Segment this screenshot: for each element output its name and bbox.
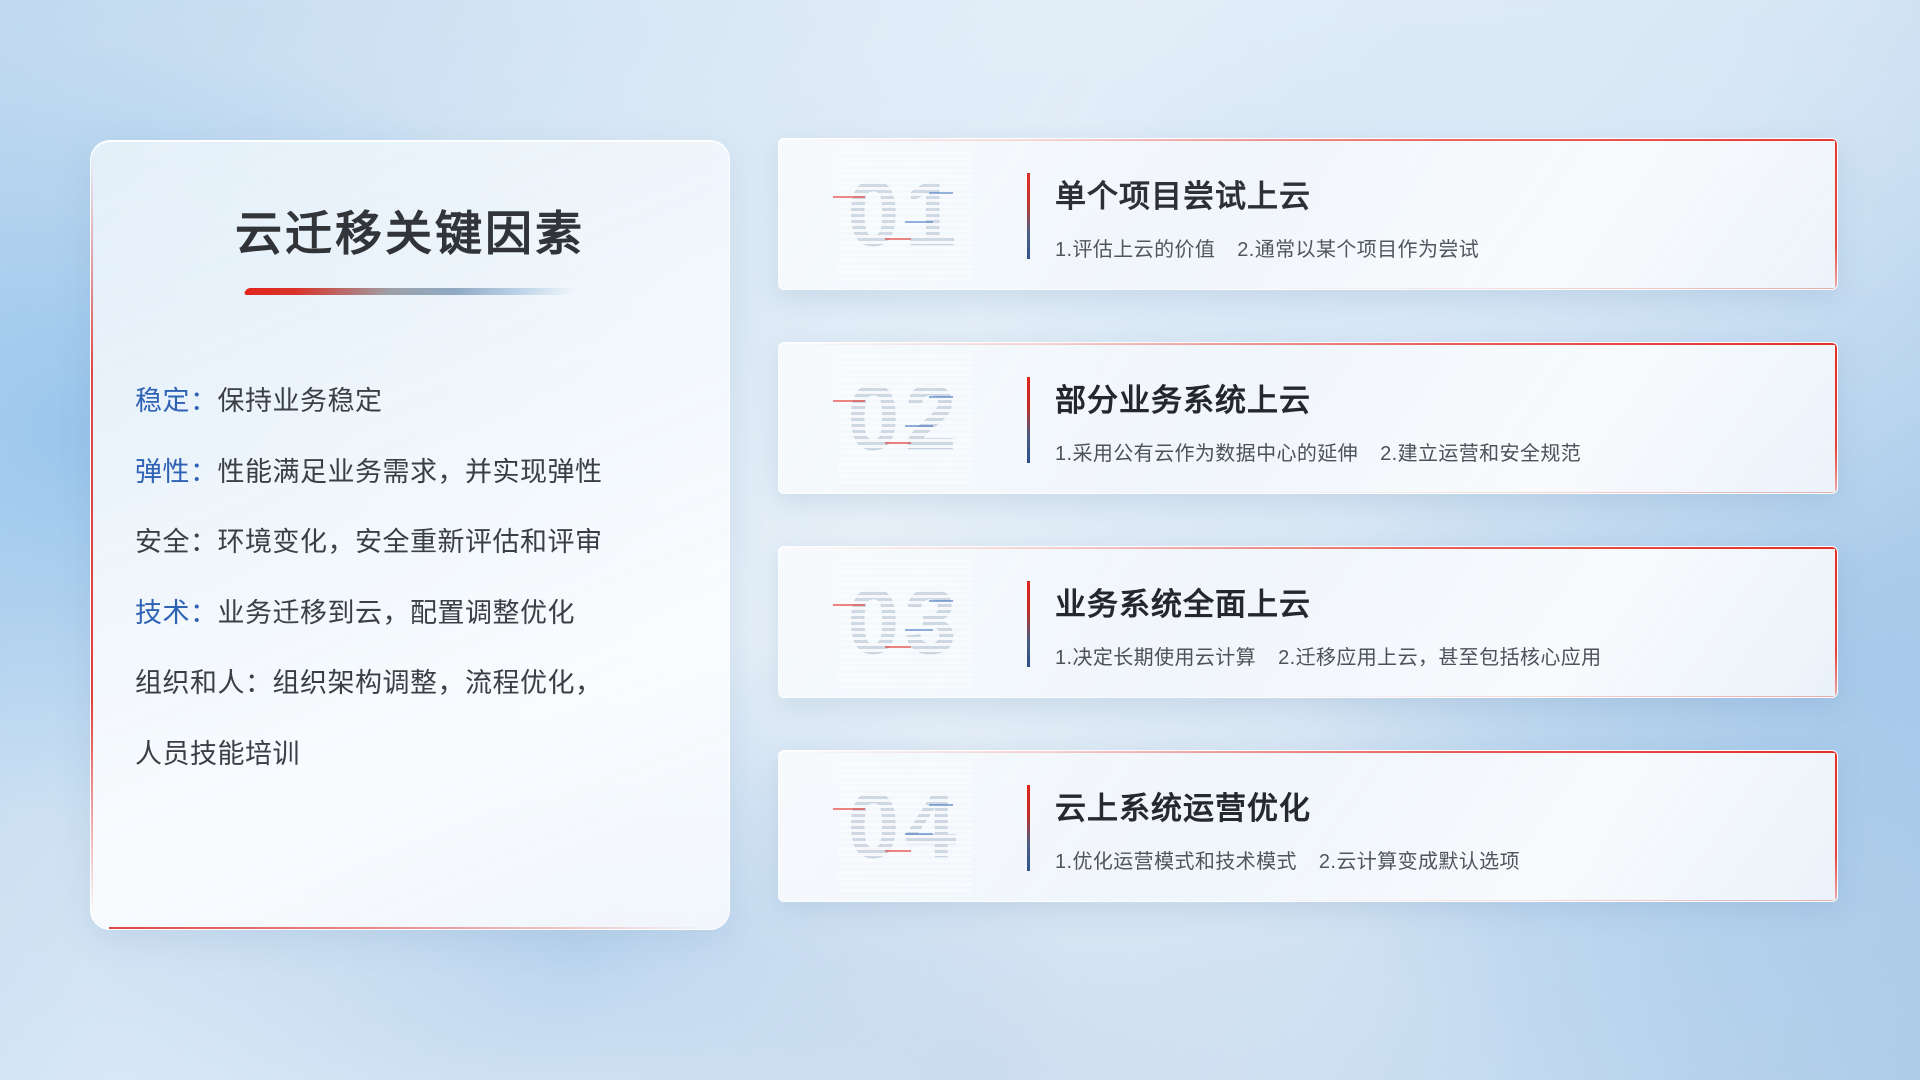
key-factor-label: 组织和人：	[135, 668, 273, 698]
step-desc-item: 1.优化运营模式和技术模式	[1055, 851, 1297, 873]
step-divider-bar	[1027, 785, 1030, 871]
step-content: 云上系统运营优化1.优化运营模式和技术模式2.云计算变成默认选项	[1055, 783, 1797, 874]
panel-bottom-accent-bar	[109, 927, 711, 929]
panel-left-accent-bar	[91, 157, 93, 913]
card-top-accent-line	[779, 751, 1837, 753]
card-top-accent-line	[779, 343, 1837, 345]
card-right-accent-line	[1835, 751, 1837, 901]
card-right-accent-line	[1835, 547, 1837, 697]
step-desc-item: 2.迁移应用上云，甚至包括核心应用	[1278, 647, 1601, 669]
step-desc-item: 2.建立运营和安全规范	[1380, 443, 1581, 465]
step-content: 部分业务系统上云1.采用公有云作为数据中心的延伸2.建立运营和安全规范	[1055, 375, 1797, 466]
step-title: 业务系统全面上云	[1055, 579, 1797, 624]
step-desc-item: 1.决定长期使用云计算	[1055, 647, 1256, 669]
step-divider-bar	[1027, 173, 1030, 259]
step-description: 1.优化运营模式和技术模式2.云计算变成默认选项	[1055, 845, 1797, 874]
step-title: 云上系统运营优化	[1055, 783, 1797, 828]
step-number-text: 03	[848, 570, 962, 675]
card-right-accent-line	[1835, 139, 1837, 289]
step-desc-item: 1.采用公有云作为数据中心的延伸	[1055, 443, 1358, 465]
step-card[interactable]: 02部分业务系统上云1.采用公有云作为数据中心的延伸2.建立运营和安全规范	[778, 342, 1838, 494]
step-title: 单个项目尝试上云	[1055, 171, 1797, 216]
key-factor-item: 稳定：保持业务稳定	[135, 381, 691, 422]
key-factors-panel: 云迁移关键因素 稳定：保持业务稳定弹性：性能满足业务需求，并实现弹性安全：环境变…	[90, 140, 730, 930]
key-factor-item: 技术：业务迁移到云，配置调整优化	[135, 593, 691, 634]
step-number-text: 04	[848, 774, 962, 879]
title-underline-rule	[243, 288, 576, 295]
step-description: 1.评估上云的价值2.通常以某个项目作为尝试	[1055, 233, 1797, 262]
step-desc-item: 2.通常以某个项目作为尝试	[1237, 239, 1479, 261]
step-number-watermark: 02	[805, 363, 1005, 473]
step-description: 1.决定长期使用云计算2.迁移应用上云，甚至包括核心应用	[1055, 641, 1797, 670]
card-bottom-accent-line	[1266, 492, 1837, 493]
migration-steps-list: 01单个项目尝试上云1.评估上云的价值2.通常以某个项目作为尝试02部分业务系统…	[778, 138, 1838, 954]
step-number-watermark: 03	[805, 567, 1005, 677]
step-content: 业务系统全面上云1.决定长期使用云计算2.迁移应用上云，甚至包括核心应用	[1055, 579, 1797, 670]
step-card[interactable]: 04云上系统运营优化1.优化运营模式和技术模式2.云计算变成默认选项	[778, 750, 1838, 902]
key-factor-item: 组织和人：组织架构调整，流程优化，人员技能培训	[135, 663, 691, 774]
key-factor-value: 性能满足业务需求，并实现弹性	[218, 457, 603, 487]
step-divider-bar	[1027, 581, 1030, 667]
key-factors-list: 稳定：保持业务稳定弹性：性能满足业务需求，并实现弹性安全：环境变化，安全重新评估…	[91, 381, 729, 774]
key-factor-item: 弹性：性能满足业务需求，并实现弹性	[135, 452, 691, 493]
key-factor-label: 技术：	[135, 598, 218, 628]
card-bottom-accent-line	[1266, 288, 1837, 289]
step-number-watermark: 01	[805, 159, 1005, 269]
card-right-accent-line	[1835, 343, 1837, 493]
key-factor-value: 组织架构调整，流程优化，	[273, 668, 603, 698]
key-factor-value: 保持业务稳定	[218, 386, 383, 416]
step-number-text: 01	[848, 162, 962, 267]
card-top-accent-line	[779, 139, 1837, 141]
step-number-watermark: 04	[805, 771, 1005, 881]
slide-canvas: 云迁移关键因素 稳定：保持业务稳定弹性：性能满足业务需求，并实现弹性安全：环境变…	[0, 0, 1920, 1080]
step-title: 部分业务系统上云	[1055, 375, 1797, 420]
step-content: 单个项目尝试上云1.评估上云的价值2.通常以某个项目作为尝试	[1055, 171, 1797, 262]
card-top-accent-line	[779, 547, 1837, 549]
key-factor-value: 业务迁移到云，配置调整优化	[218, 598, 576, 628]
step-desc-item: 2.云计算变成默认选项	[1319, 851, 1520, 873]
step-card[interactable]: 03业务系统全面上云1.决定长期使用云计算2.迁移应用上云，甚至包括核心应用	[778, 546, 1838, 698]
key-factor-label: 稳定：	[135, 386, 218, 416]
step-divider-bar	[1027, 377, 1030, 463]
step-description: 1.采用公有云作为数据中心的延伸2.建立运营和安全规范	[1055, 437, 1797, 466]
step-desc-item: 1.评估上云的价值	[1055, 239, 1215, 261]
key-factor-label: 弹性：	[135, 457, 218, 487]
key-factor-value-continued: 人员技能培训	[135, 734, 691, 775]
step-number-text: 02	[848, 366, 962, 471]
step-card[interactable]: 01单个项目尝试上云1.评估上云的价值2.通常以某个项目作为尝试	[778, 138, 1838, 290]
card-bottom-accent-line	[1266, 900, 1837, 901]
card-bottom-accent-line	[1266, 696, 1837, 697]
key-factor-item: 安全：环境变化，安全重新评估和评审	[135, 522, 691, 563]
key-factor-value: 环境变化，安全重新评估和评审	[218, 527, 603, 557]
key-factor-label: 安全：	[135, 527, 218, 557]
page-title: 云迁移关键因素	[91, 195, 729, 264]
